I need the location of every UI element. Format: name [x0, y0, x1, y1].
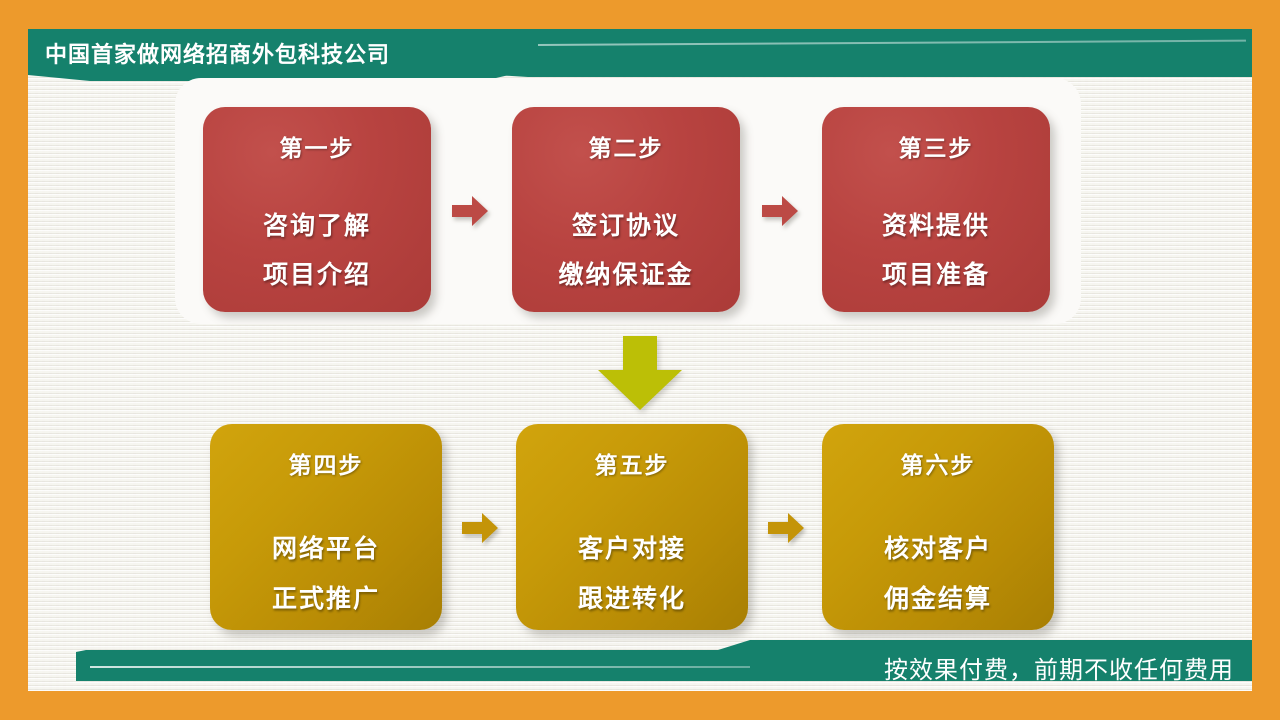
- page-title: 中国首家做网络招商外包科技公司: [45, 37, 390, 69]
- step-card-1[interactable]: 第一步 咨询了解 项目介绍: [203, 107, 431, 312]
- arrow-right-icon: [450, 194, 490, 228]
- footer-accent-line: [90, 666, 750, 668]
- step-card-2-line2: 缴纳保证金: [558, 255, 693, 291]
- step-card-5-line1: 客户对接: [578, 529, 686, 565]
- arrow-right-icon: [760, 194, 800, 228]
- step-card-1-line1: 咨询了解: [263, 206, 371, 242]
- arrow-right-icon: [766, 511, 806, 545]
- footer-tagline: 按效果付费，前期不收任何费用: [884, 650, 1234, 685]
- footer-bar: 按效果付费，前期不收任何费用: [28, 640, 1252, 691]
- step-card-6-line2: 佣金结算: [884, 579, 992, 615]
- step-card-5-line2: 跟进转化: [578, 579, 686, 615]
- arrow-down-icon: [592, 336, 688, 412]
- step-card-1-line2: 项目介绍: [263, 255, 371, 291]
- slide-root: 中国首家做网络招商外包科技公司 第一步 咨询了解 项目介绍 第二步 签订协议 缴…: [0, 0, 1280, 720]
- step-card-6[interactable]: 第六步 核对客户 佣金结算: [822, 424, 1054, 630]
- arrow-right-icon: [460, 511, 500, 545]
- step-card-6-line1: 核对客户: [884, 529, 992, 565]
- step-card-1-title: 第一步: [280, 129, 355, 163]
- step-card-5-title: 第五步: [595, 446, 670, 480]
- step-card-5[interactable]: 第五步 客户对接 跟进转化: [516, 424, 748, 630]
- step-card-3-line1: 资料提供: [882, 206, 990, 242]
- header-bar: 中国首家做网络招商外包科技公司: [28, 29, 1252, 81]
- step-card-3-line2: 项目准备: [882, 255, 990, 291]
- step-card-2-line1: 签订协议: [572, 206, 680, 242]
- step-card-2-title: 第二步: [589, 129, 664, 163]
- step-card-4-title: 第四步: [289, 446, 364, 480]
- step-card-2[interactable]: 第二步 签订协议 缴纳保证金: [512, 107, 740, 312]
- step-card-4-line2: 正式推广: [272, 579, 380, 615]
- step-card-4-line1: 网络平台: [272, 529, 380, 565]
- step-card-6-title: 第六步: [901, 446, 976, 480]
- step-card-3[interactable]: 第三步 资料提供 项目准备: [822, 107, 1050, 312]
- step-card-3-title: 第三步: [899, 129, 974, 163]
- step-card-4[interactable]: 第四步 网络平台 正式推广: [210, 424, 442, 630]
